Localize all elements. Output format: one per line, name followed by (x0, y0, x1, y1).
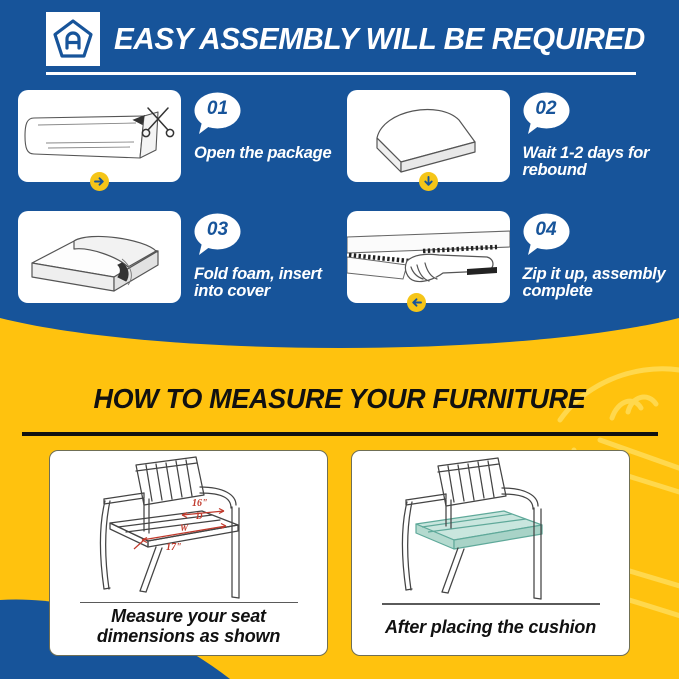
measure-card-cushion: After placing the cushion (351, 450, 630, 656)
assembly-steps-grid: 01 Open the package (18, 90, 666, 321)
hand-zipping-cover-illustration (347, 211, 510, 303)
measure-section-title: HOW TO MEASURE YOUR FURNITURE (7, 383, 672, 415)
page-title: EASY ASSEMBLY WILL BE REQUIRED (114, 22, 645, 57)
step-item: 04 Zip it up, assembly complete (347, 211, 667, 321)
step-number: 02 (523, 92, 570, 129)
infographic-root: EASY ASSEMBLY WILL BE REQUIRED (0, 0, 679, 679)
left-arrow-badge (407, 293, 426, 312)
step-label: Wait 1-2 days for rebound (523, 145, 667, 179)
right-arrow-badge (90, 172, 109, 191)
step-number: 04 (523, 213, 570, 250)
step-item: 02 Wait 1-2 days for rebound (347, 90, 667, 200)
step-number: 03 (194, 213, 241, 250)
step-number-badge: 01 (194, 92, 241, 137)
svg-text:W: W (180, 523, 189, 533)
step-label: Fold foam, insert into cover (194, 266, 338, 300)
step-01-card (18, 90, 181, 182)
step-03-card (18, 211, 181, 303)
dimension-label-depth: 16" (192, 498, 208, 509)
step-item: 03 Fold foam, insert into cover (18, 211, 338, 321)
step-number: 01 (194, 92, 241, 129)
package-with-scissors-illustration (18, 90, 181, 182)
measure-cards: 16" D W 17" Measure your seat dimensions… (0, 450, 679, 656)
measure-card-caption: Measure your seat dimensions as shown (50, 603, 327, 655)
measure-card-dimensions: 16" D W 17" Measure your seat dimensions… (49, 450, 328, 656)
svg-text:D: D (195, 511, 203, 521)
chair-with-cushion-illustration (352, 451, 629, 603)
step-label: Open the package (194, 145, 331, 162)
dimension-label-width: 17" (166, 542, 182, 553)
house-pentagon-logo-icon (46, 12, 100, 66)
step-02-card (347, 90, 510, 182)
step-number-badge: 04 (523, 213, 570, 258)
chair-with-dimension-labels-illustration: 16" D W 17" (50, 451, 327, 602)
step-item: 01 Open the package (18, 90, 338, 200)
foam-inserted-into-cover-illustration (18, 211, 181, 303)
step-number-badge: 02 (523, 92, 570, 137)
header-divider (46, 72, 636, 75)
measure-divider (22, 432, 658, 436)
foam-cushion-illustration (347, 90, 510, 182)
header: EASY ASSEMBLY WILL BE REQUIRED (46, 12, 661, 66)
step-label: Zip it up, assembly complete (523, 266, 667, 300)
measure-card-caption: After placing the cushion (375, 605, 606, 656)
step-number-badge: 03 (194, 213, 241, 258)
step-04-card (347, 211, 510, 303)
down-arrow-badge (419, 172, 438, 191)
